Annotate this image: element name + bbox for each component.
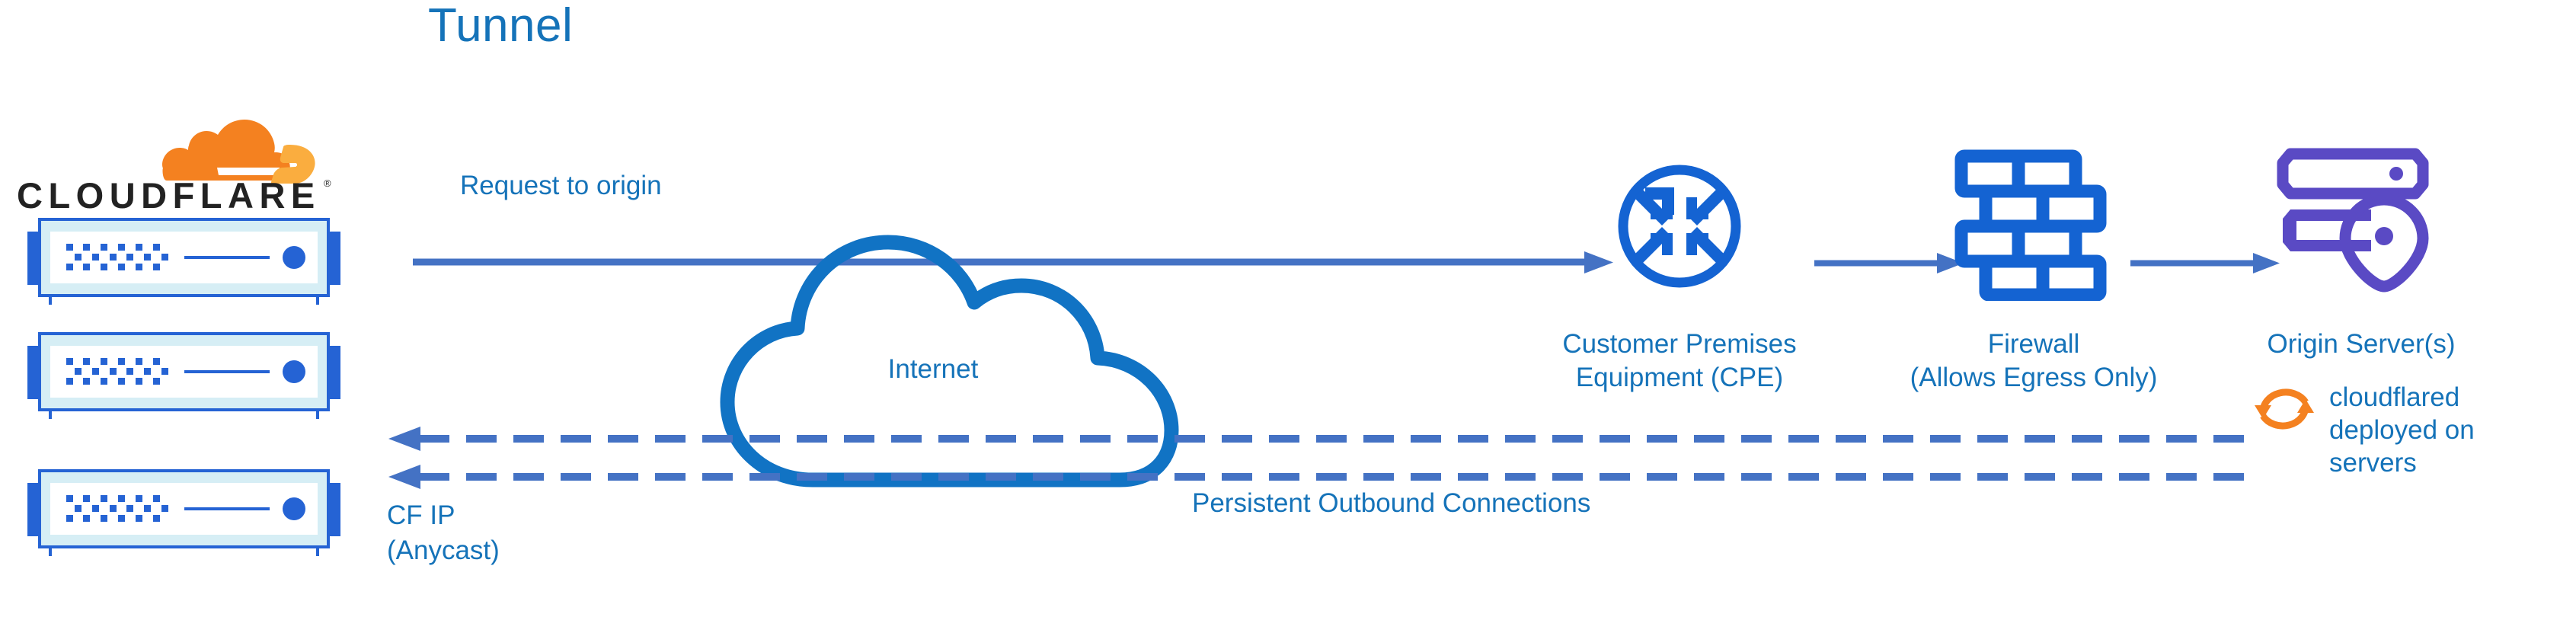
origin-server-rack-pin-icon — [2274, 145, 2434, 297]
cf-ip-label-line2: (Anycast) — [387, 533, 500, 568]
cpe-label-line2: Equipment (CPE) — [1497, 361, 1862, 395]
origin-server-label: Origin Server(s) — [2232, 328, 2491, 361]
diagram-canvas: Tunnel CLOUDFLARE ® — [0, 0, 2576, 617]
cloudflare-logo: CLOUDFLARE ® — [17, 107, 337, 213]
cloudflare-edge-server-icon — [11, 212, 357, 305]
persistent-outbound-arrows — [381, 424, 2255, 492]
cloudflared-icon-wrap — [2250, 375, 2319, 443]
firewall-node-icon[interactable] — [1954, 149, 2110, 301]
cloudflared-sync-arrows-icon — [2250, 375, 2319, 443]
internet-label: Internet — [807, 353, 1059, 386]
cpe-node-icon[interactable] — [1615, 161, 1744, 291]
cloudflare-wordmark: CLOUDFLARE — [17, 175, 321, 213]
cf-ip-label-line1: CF IP — [387, 498, 455, 533]
registered-mark: ® — [324, 177, 331, 189]
arrow-svg — [2129, 253, 2281, 274]
arrow-svg — [1813, 253, 1965, 274]
page-title: Tunnel — [428, 0, 573, 53]
cf-server-3[interactable] — [11, 463, 357, 560]
cloudflared-label-line3: servers — [2329, 446, 2417, 479]
firewall-label-line1: Firewall — [1881, 328, 2186, 361]
firewall-brick-wall-icon — [1954, 149, 2110, 301]
firewall-label-line2: (Allows Egress Only) — [1843, 361, 2224, 395]
cloudflare-edge-server-icon — [11, 326, 357, 419]
cloudflare-logo-svg: CLOUDFLARE ® — [17, 107, 337, 213]
firewall-to-origin-arrow — [2129, 253, 2281, 274]
origin-server-node-icon[interactable] — [2274, 145, 2434, 297]
cloudflared-label-line2: deployed on — [2329, 414, 2475, 446]
dashed-arrows-svg — [381, 424, 2255, 492]
cf-server-1[interactable] — [11, 212, 357, 308]
persistent-outbound-label: Persistent Outbound Connections — [1192, 487, 1590, 520]
cloudflared-label-line1: cloudflared — [2329, 381, 2459, 414]
cpe-to-firewall-arrow — [1813, 253, 1965, 274]
cloud-highlight — [217, 168, 280, 175]
request-to-origin-label: Request to origin — [460, 169, 662, 203]
cloudflare-cloud-icon — [162, 120, 315, 184]
cpe-label-line1: Customer Premises — [1497, 328, 1862, 361]
cf-server-2[interactable] — [11, 326, 357, 423]
cloudflare-edge-server-icon — [11, 463, 357, 556]
cpe-converging-arrows-icon — [1615, 161, 1744, 291]
